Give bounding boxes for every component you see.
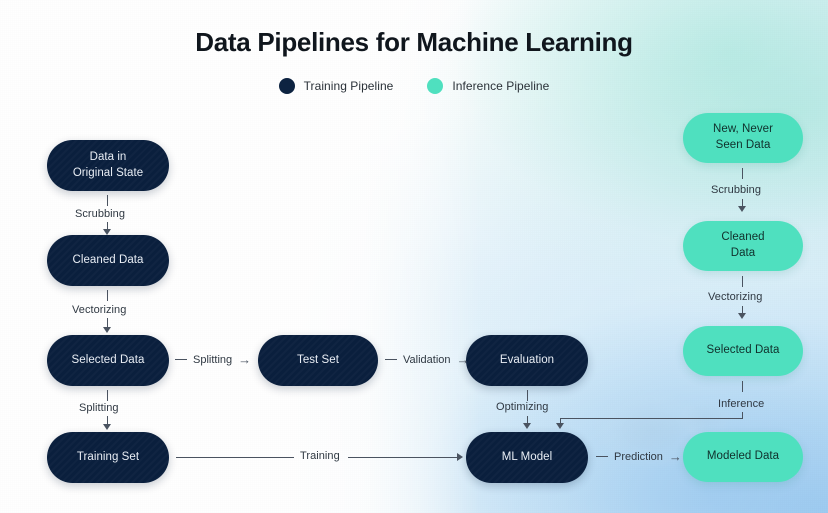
edge-label-inference: Inference	[718, 398, 764, 410]
circle-icon	[279, 78, 295, 94]
edge-label-splitting-down: Splitting	[79, 402, 119, 414]
edge-label-splitting-right: Splitting	[193, 354, 232, 366]
circle-icon	[427, 78, 443, 94]
edge-label-prediction: Prediction	[614, 451, 663, 463]
node-ml-model[interactable]: ML Model	[466, 432, 588, 483]
edge-line	[176, 457, 294, 458]
diagram-canvas: Data Pipelines for Machine Learning Trai…	[0, 0, 828, 513]
edge-label-validation: Validation	[403, 354, 451, 366]
edge-line	[560, 418, 743, 419]
edge-line	[385, 359, 397, 360]
arrow-right-icon: →	[669, 450, 682, 463]
edge-validation: Validation →	[385, 353, 470, 366]
edge-line	[175, 359, 187, 360]
arrow-down-icon	[103, 229, 111, 235]
edge-line	[107, 290, 108, 301]
legend: Training Pipeline Inference Pipeline	[0, 78, 828, 94]
node-cleaned-data-inference[interactable]: Cleaned Data	[683, 221, 803, 271]
node-selected-data-inference[interactable]: Selected Data	[683, 326, 803, 376]
edge-line	[348, 457, 458, 458]
edge-line	[527, 390, 528, 401]
node-training-set[interactable]: Training Set	[47, 432, 169, 483]
node-evaluation[interactable]: Evaluation	[466, 335, 588, 386]
edge-prediction: Prediction →	[596, 450, 682, 463]
legend-item-label: Training Pipeline	[304, 79, 394, 93]
edge-label-optimizing: Optimizing	[496, 401, 548, 413]
legend-item-inference-pipeline: Inference Pipeline	[427, 78, 549, 94]
arrow-down-icon	[523, 423, 531, 429]
node-cleaned-data-training[interactable]: Cleaned Data	[47, 235, 169, 286]
edge-label-training: Training	[300, 450, 340, 462]
arrow-down-icon	[103, 424, 111, 430]
edge-line	[107, 390, 108, 401]
arrow-right-icon: →	[457, 353, 470, 366]
node-selected-data-training[interactable]: Selected Data	[47, 335, 169, 386]
arrow-right-icon	[457, 453, 463, 461]
edge-label-scrubbing-right: Scrubbing	[711, 184, 761, 196]
arrow-right-icon: →	[238, 353, 251, 366]
edge-splitting-right: Splitting →	[175, 353, 251, 366]
edge-label-vectorizing-left: Vectorizing	[72, 304, 126, 316]
edge-line	[596, 456, 608, 457]
legend-item-training-pipeline: Training Pipeline	[279, 78, 394, 94]
edge-line	[742, 168, 743, 179]
edge-label-scrubbing-left: Scrubbing	[75, 208, 125, 220]
edge-label-vectorizing-right: Vectorizing	[708, 291, 762, 303]
node-modeled-data[interactable]: Modeled Data	[683, 432, 803, 482]
arrow-down-icon	[738, 206, 746, 212]
arrow-down-icon	[103, 327, 111, 333]
arrow-down-icon	[556, 423, 564, 429]
node-test-set[interactable]: Test Set	[258, 335, 378, 386]
edge-line	[742, 381, 743, 392]
arrow-down-icon	[738, 313, 746, 319]
node-new-never-seen-data[interactable]: New, Never Seen Data	[683, 113, 803, 163]
legend-item-label: Inference Pipeline	[452, 79, 549, 93]
edge-line	[107, 195, 108, 206]
page-title: Data Pipelines for Machine Learning	[0, 27, 828, 58]
node-data-in-original-state[interactable]: Data in Original State	[47, 140, 169, 191]
edge-line	[742, 276, 743, 287]
